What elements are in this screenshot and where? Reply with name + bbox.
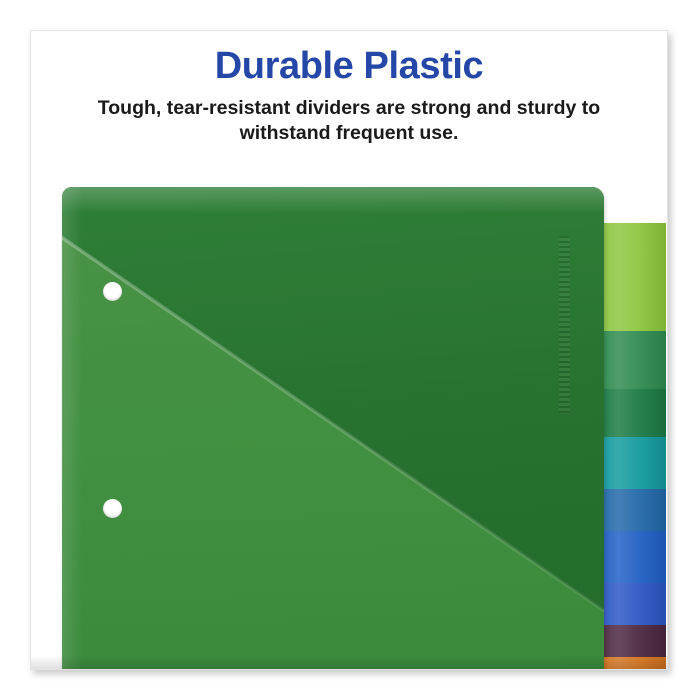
sheet-top-gloss — [62, 187, 604, 213]
color-tab-stack — [594, 223, 666, 670]
tab-8-plum — [594, 625, 666, 657]
tab-9-orange — [594, 657, 666, 670]
tab-1-lime-green — [594, 223, 666, 331]
screenshot-stage: Durable Plastic Tough, tear-resistant di… — [0, 0, 700, 700]
reinforced-binding-strip — [559, 236, 570, 414]
tab-5-steel-blue — [594, 489, 666, 531]
product-photo — [31, 31, 668, 670]
sheet-left-edge-shading — [62, 187, 82, 670]
green-plastic-divider-sheet — [62, 187, 604, 670]
tab-6-blue — [594, 531, 666, 583]
top-punch-hole — [103, 282, 122, 301]
tab-2-green — [594, 331, 666, 389]
product-card-frame: Durable Plastic Tough, tear-resistant di… — [30, 30, 668, 670]
tab-3-dark-green — [594, 389, 666, 437]
tab-4-teal — [594, 437, 666, 489]
tab-7-royal-blue — [594, 583, 666, 625]
bottom-punch-hole — [103, 499, 122, 518]
